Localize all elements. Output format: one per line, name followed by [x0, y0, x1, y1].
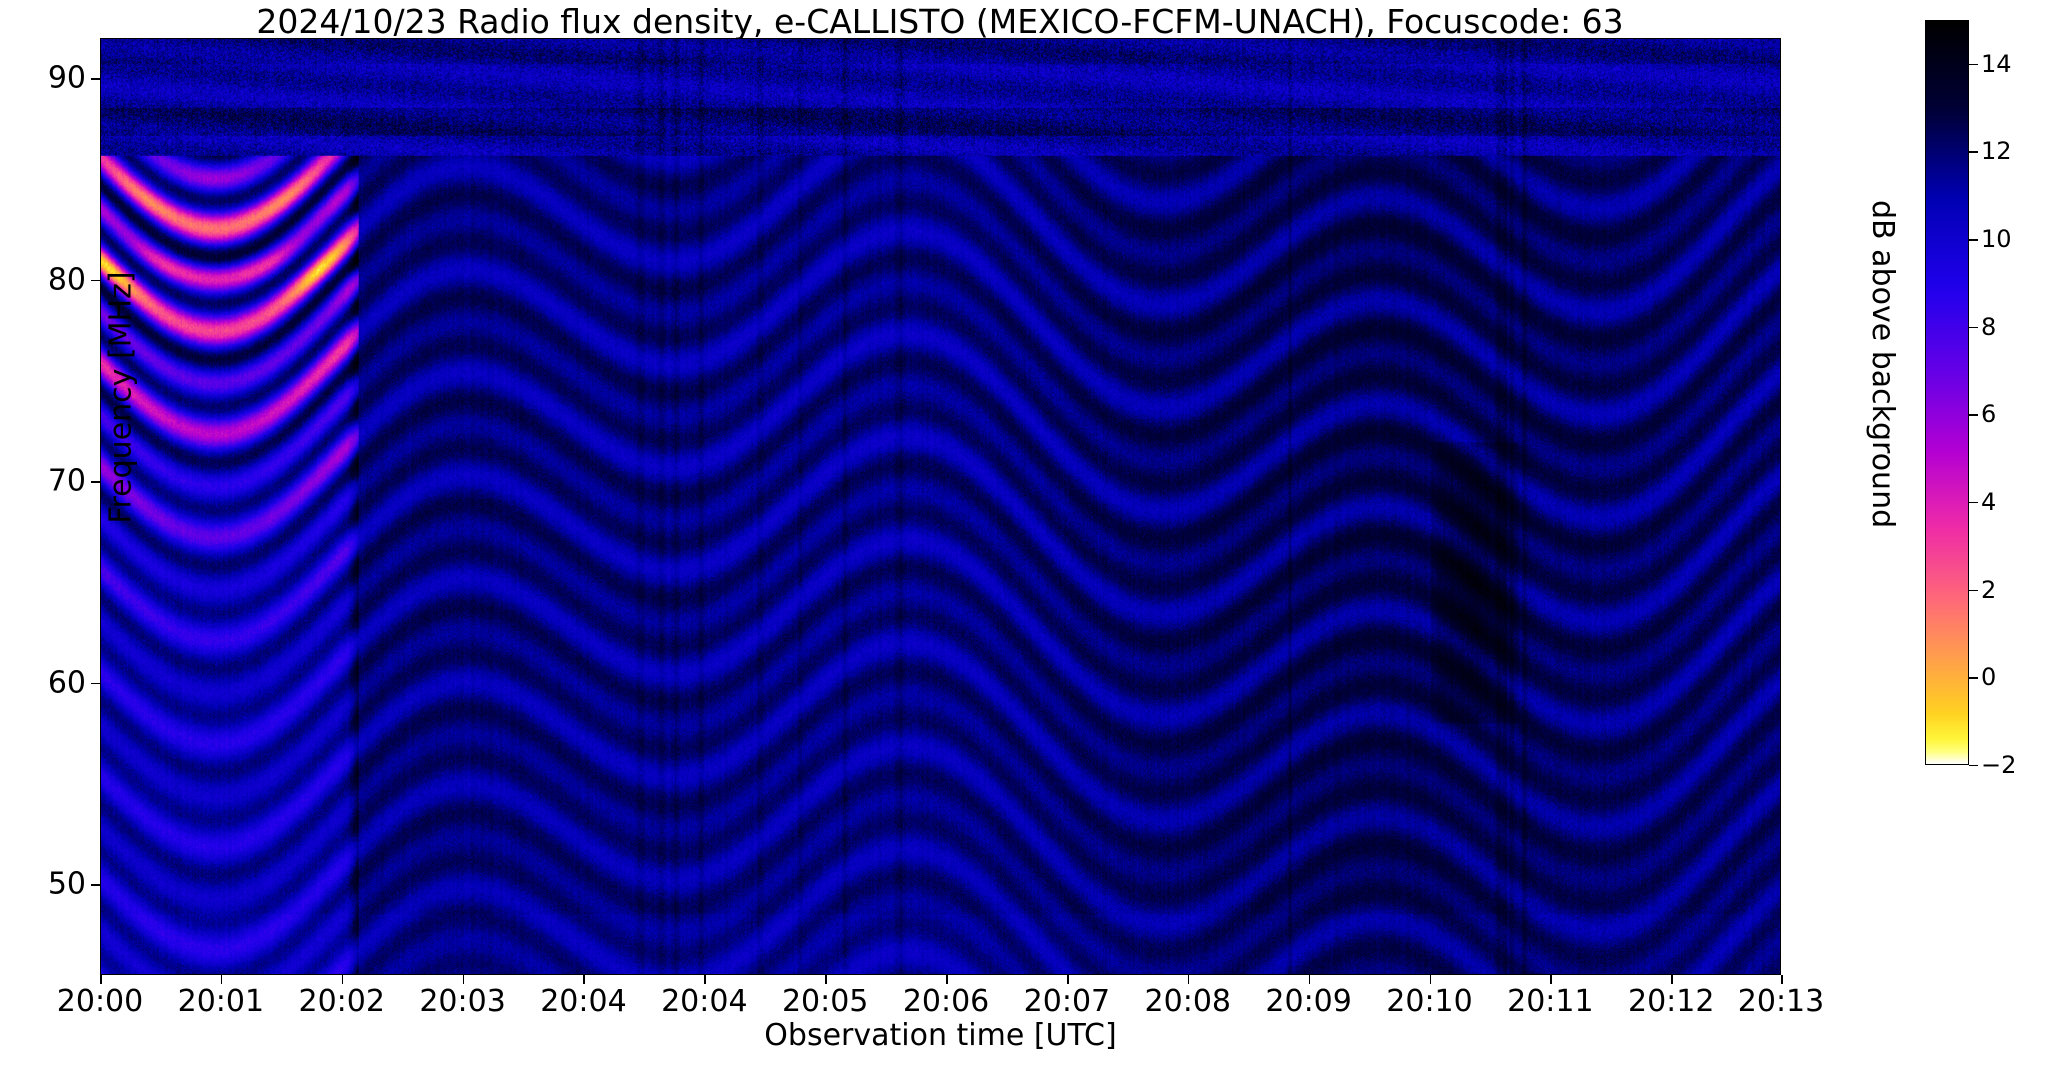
- x-tick-mark: [946, 975, 948, 984]
- x-tick-label: 20:11: [1507, 984, 1593, 1019]
- y-tick-label: 90: [6, 61, 86, 96]
- colorbar-tick-label: 12: [1981, 137, 2012, 165]
- colorbar-tick-label: 4: [1981, 488, 1996, 516]
- y-tick-label: 60: [6, 665, 86, 700]
- spectrogram-image: [101, 39, 1780, 974]
- x-tick-mark: [704, 975, 706, 984]
- x-tick-mark: [1671, 975, 1673, 984]
- colorbar-tick-mark: [1969, 239, 1978, 240]
- x-tick-label: 20:07: [1024, 984, 1110, 1019]
- y-tick-mark: [91, 280, 100, 282]
- colorbar-tick-mark: [1969, 502, 1978, 503]
- x-tick-label: 20:04: [540, 984, 626, 1019]
- colorbar-tick-mark: [1969, 590, 1978, 591]
- colorbar-tick-label: −2: [1981, 751, 2016, 779]
- colorbar-tick-mark: [1969, 151, 1978, 152]
- y-axis-title: Frequency [MHz]: [104, 268, 139, 528]
- x-tick-mark: [825, 975, 827, 984]
- colorbar-tick-label: 8: [1981, 313, 1996, 341]
- y-tick-label: 70: [6, 464, 86, 499]
- x-tick-label: 20:06: [903, 984, 989, 1019]
- x-axis-title: Observation time [UTC]: [100, 1018, 1781, 1053]
- x-tick-label: 20:04: [661, 984, 747, 1019]
- y-tick-mark: [91, 683, 100, 685]
- x-tick-mark: [1309, 975, 1311, 984]
- x-tick-mark: [583, 975, 585, 984]
- x-tick-label: 20:12: [1628, 984, 1714, 1019]
- x-tick-mark: [463, 975, 465, 984]
- y-tick-mark: [91, 884, 100, 886]
- y-tick-mark: [91, 78, 100, 80]
- colorbar-tick-label: 6: [1981, 400, 1996, 428]
- x-tick-mark: [1188, 975, 1190, 984]
- x-tick-mark: [1781, 975, 1783, 984]
- colorbar-tick-mark: [1969, 677, 1978, 678]
- colorbar-tick-mark: [1969, 327, 1978, 328]
- colorbar-tick-mark: [1969, 414, 1978, 415]
- colorbar: [1925, 20, 1969, 765]
- x-tick-label: 20:02: [298, 984, 384, 1019]
- x-tick-label: 20:08: [1145, 984, 1231, 1019]
- x-tick-mark: [342, 975, 344, 984]
- colorbar-tick-label: 10: [1981, 225, 2012, 253]
- colorbar-tick-label: 0: [1981, 663, 1996, 691]
- x-tick-label: 20:09: [1265, 984, 1351, 1019]
- x-tick-label: 20:05: [782, 984, 868, 1019]
- figure-canvas: 2024/10/23 Radio flux density, e-CALLIST…: [0, 0, 2047, 1067]
- colorbar-tick-label: 14: [1981, 50, 2012, 78]
- y-tick-mark: [91, 481, 100, 483]
- x-tick-mark: [100, 975, 102, 984]
- colorbar-tick-label: 2: [1981, 576, 1996, 604]
- colorbar-tick-mark: [1969, 765, 1978, 766]
- x-tick-mark: [1430, 975, 1432, 984]
- x-tick-label: 20:00: [57, 984, 143, 1019]
- colorbar-gradient: [1926, 21, 1968, 764]
- x-tick-label: 20:10: [1386, 984, 1472, 1019]
- x-tick-label: 20:13: [1738, 984, 1824, 1019]
- colorbar-tick-mark: [1969, 64, 1978, 65]
- x-tick-label: 20:01: [178, 984, 264, 1019]
- page-title: 2024/10/23 Radio flux density, e-CALLIST…: [0, 2, 1880, 41]
- x-tick-label: 20:03: [419, 984, 505, 1019]
- colorbar-title: dB above background: [1865, 200, 1900, 720]
- x-tick-mark: [221, 975, 223, 984]
- x-tick-mark: [1067, 975, 1069, 984]
- y-tick-label: 80: [6, 262, 86, 297]
- x-tick-mark: [1550, 975, 1552, 984]
- spectrogram-plot-area: [100, 38, 1781, 975]
- y-tick-label: 50: [6, 867, 86, 902]
